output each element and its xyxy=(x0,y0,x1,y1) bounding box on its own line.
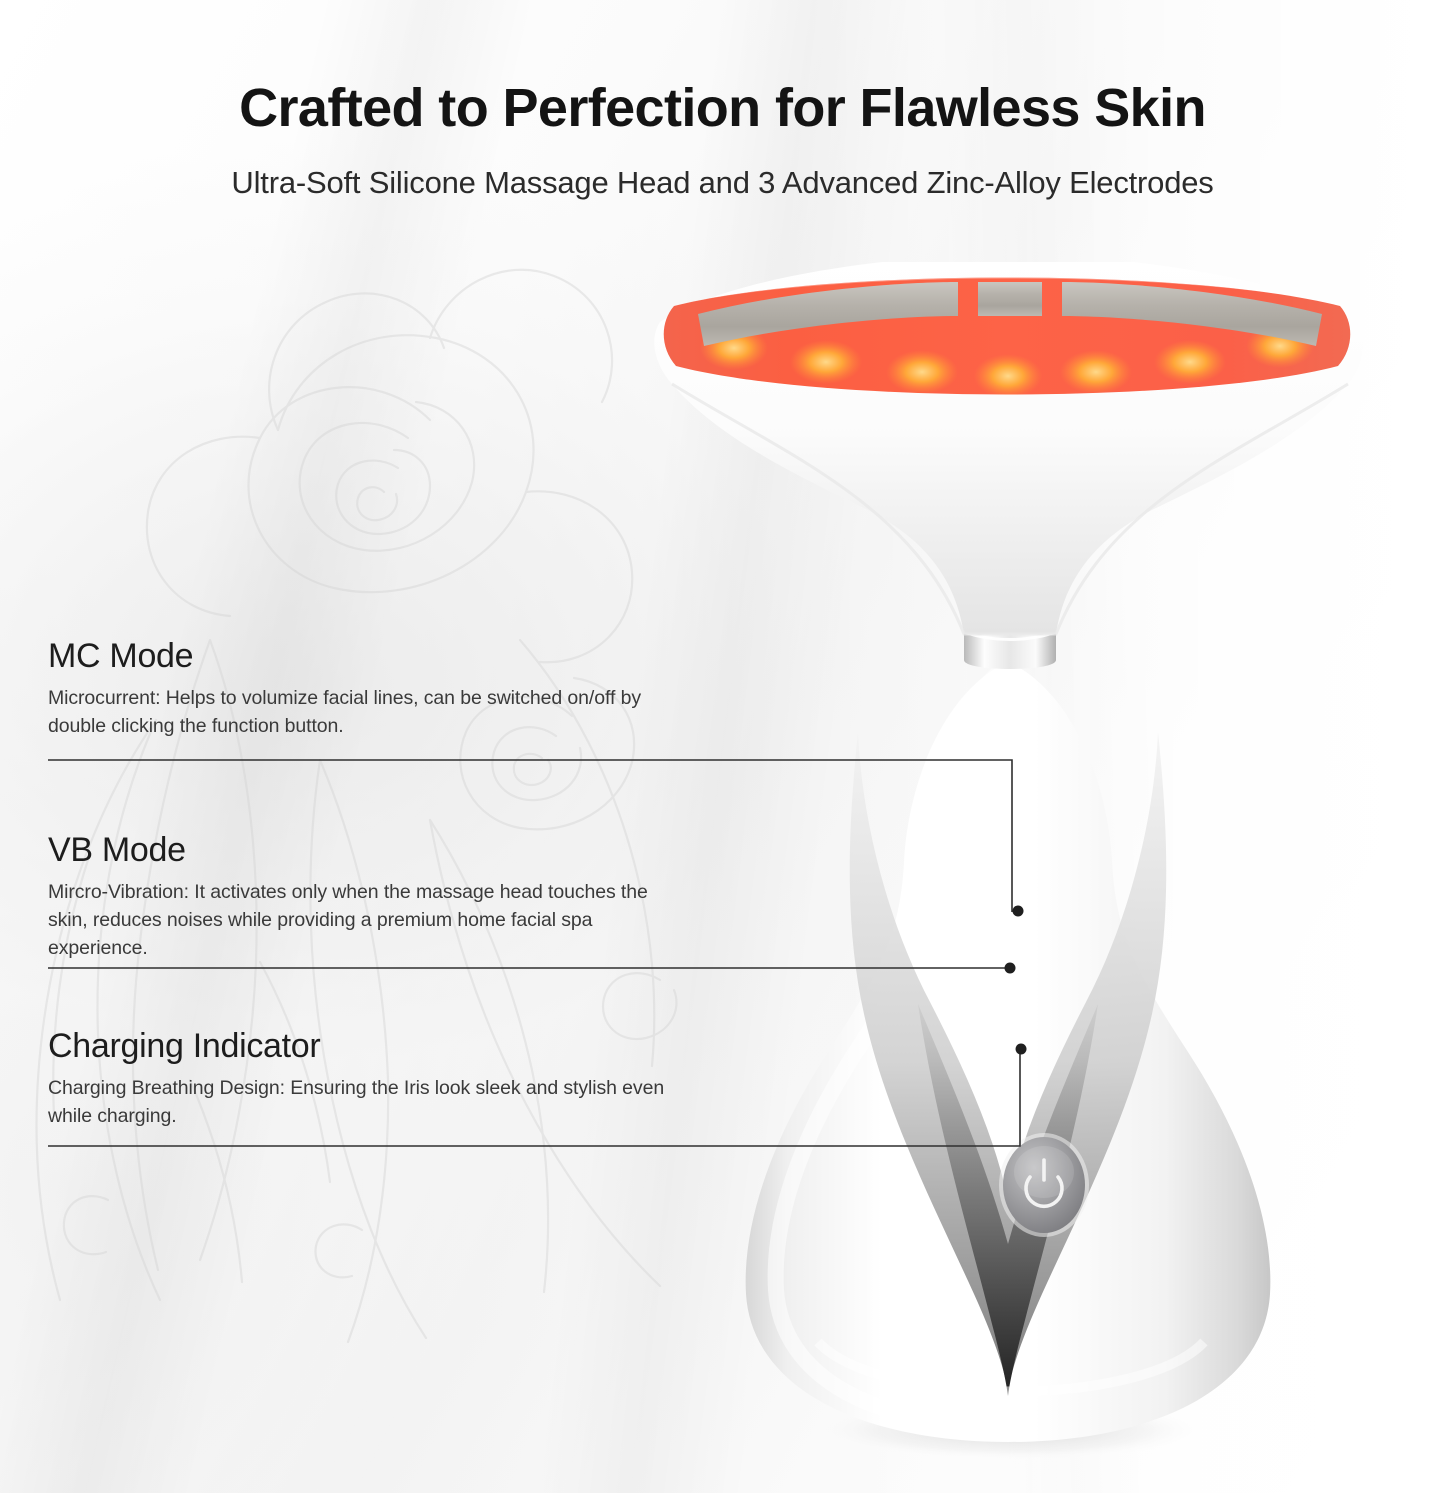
feature-charging-indicator-heading: Charging Indicator xyxy=(48,1026,688,1066)
feature-vb-mode-body: Mircro-Vibration: It activates only when… xyxy=(48,878,688,962)
feature-vb-mode-heading: VB Mode xyxy=(48,830,688,870)
feature-callouts: MC Mode Microcurrent: Helps to volumize … xyxy=(0,0,1445,1493)
feature-charging-indicator: Charging Indicator Charging Breathing De… xyxy=(48,1026,688,1130)
feature-mc-mode-body: Microcurrent: Helps to volumize facial l… xyxy=(48,684,688,740)
feature-mc-mode: MC Mode Microcurrent: Helps to volumize … xyxy=(48,636,688,740)
feature-mc-mode-heading: MC Mode xyxy=(48,636,688,676)
feature-vb-mode: VB Mode Mircro-Vibration: It activates o… xyxy=(48,830,688,962)
feature-charging-indicator-body: Charging Breathing Design: Ensuring the … xyxy=(48,1074,688,1130)
